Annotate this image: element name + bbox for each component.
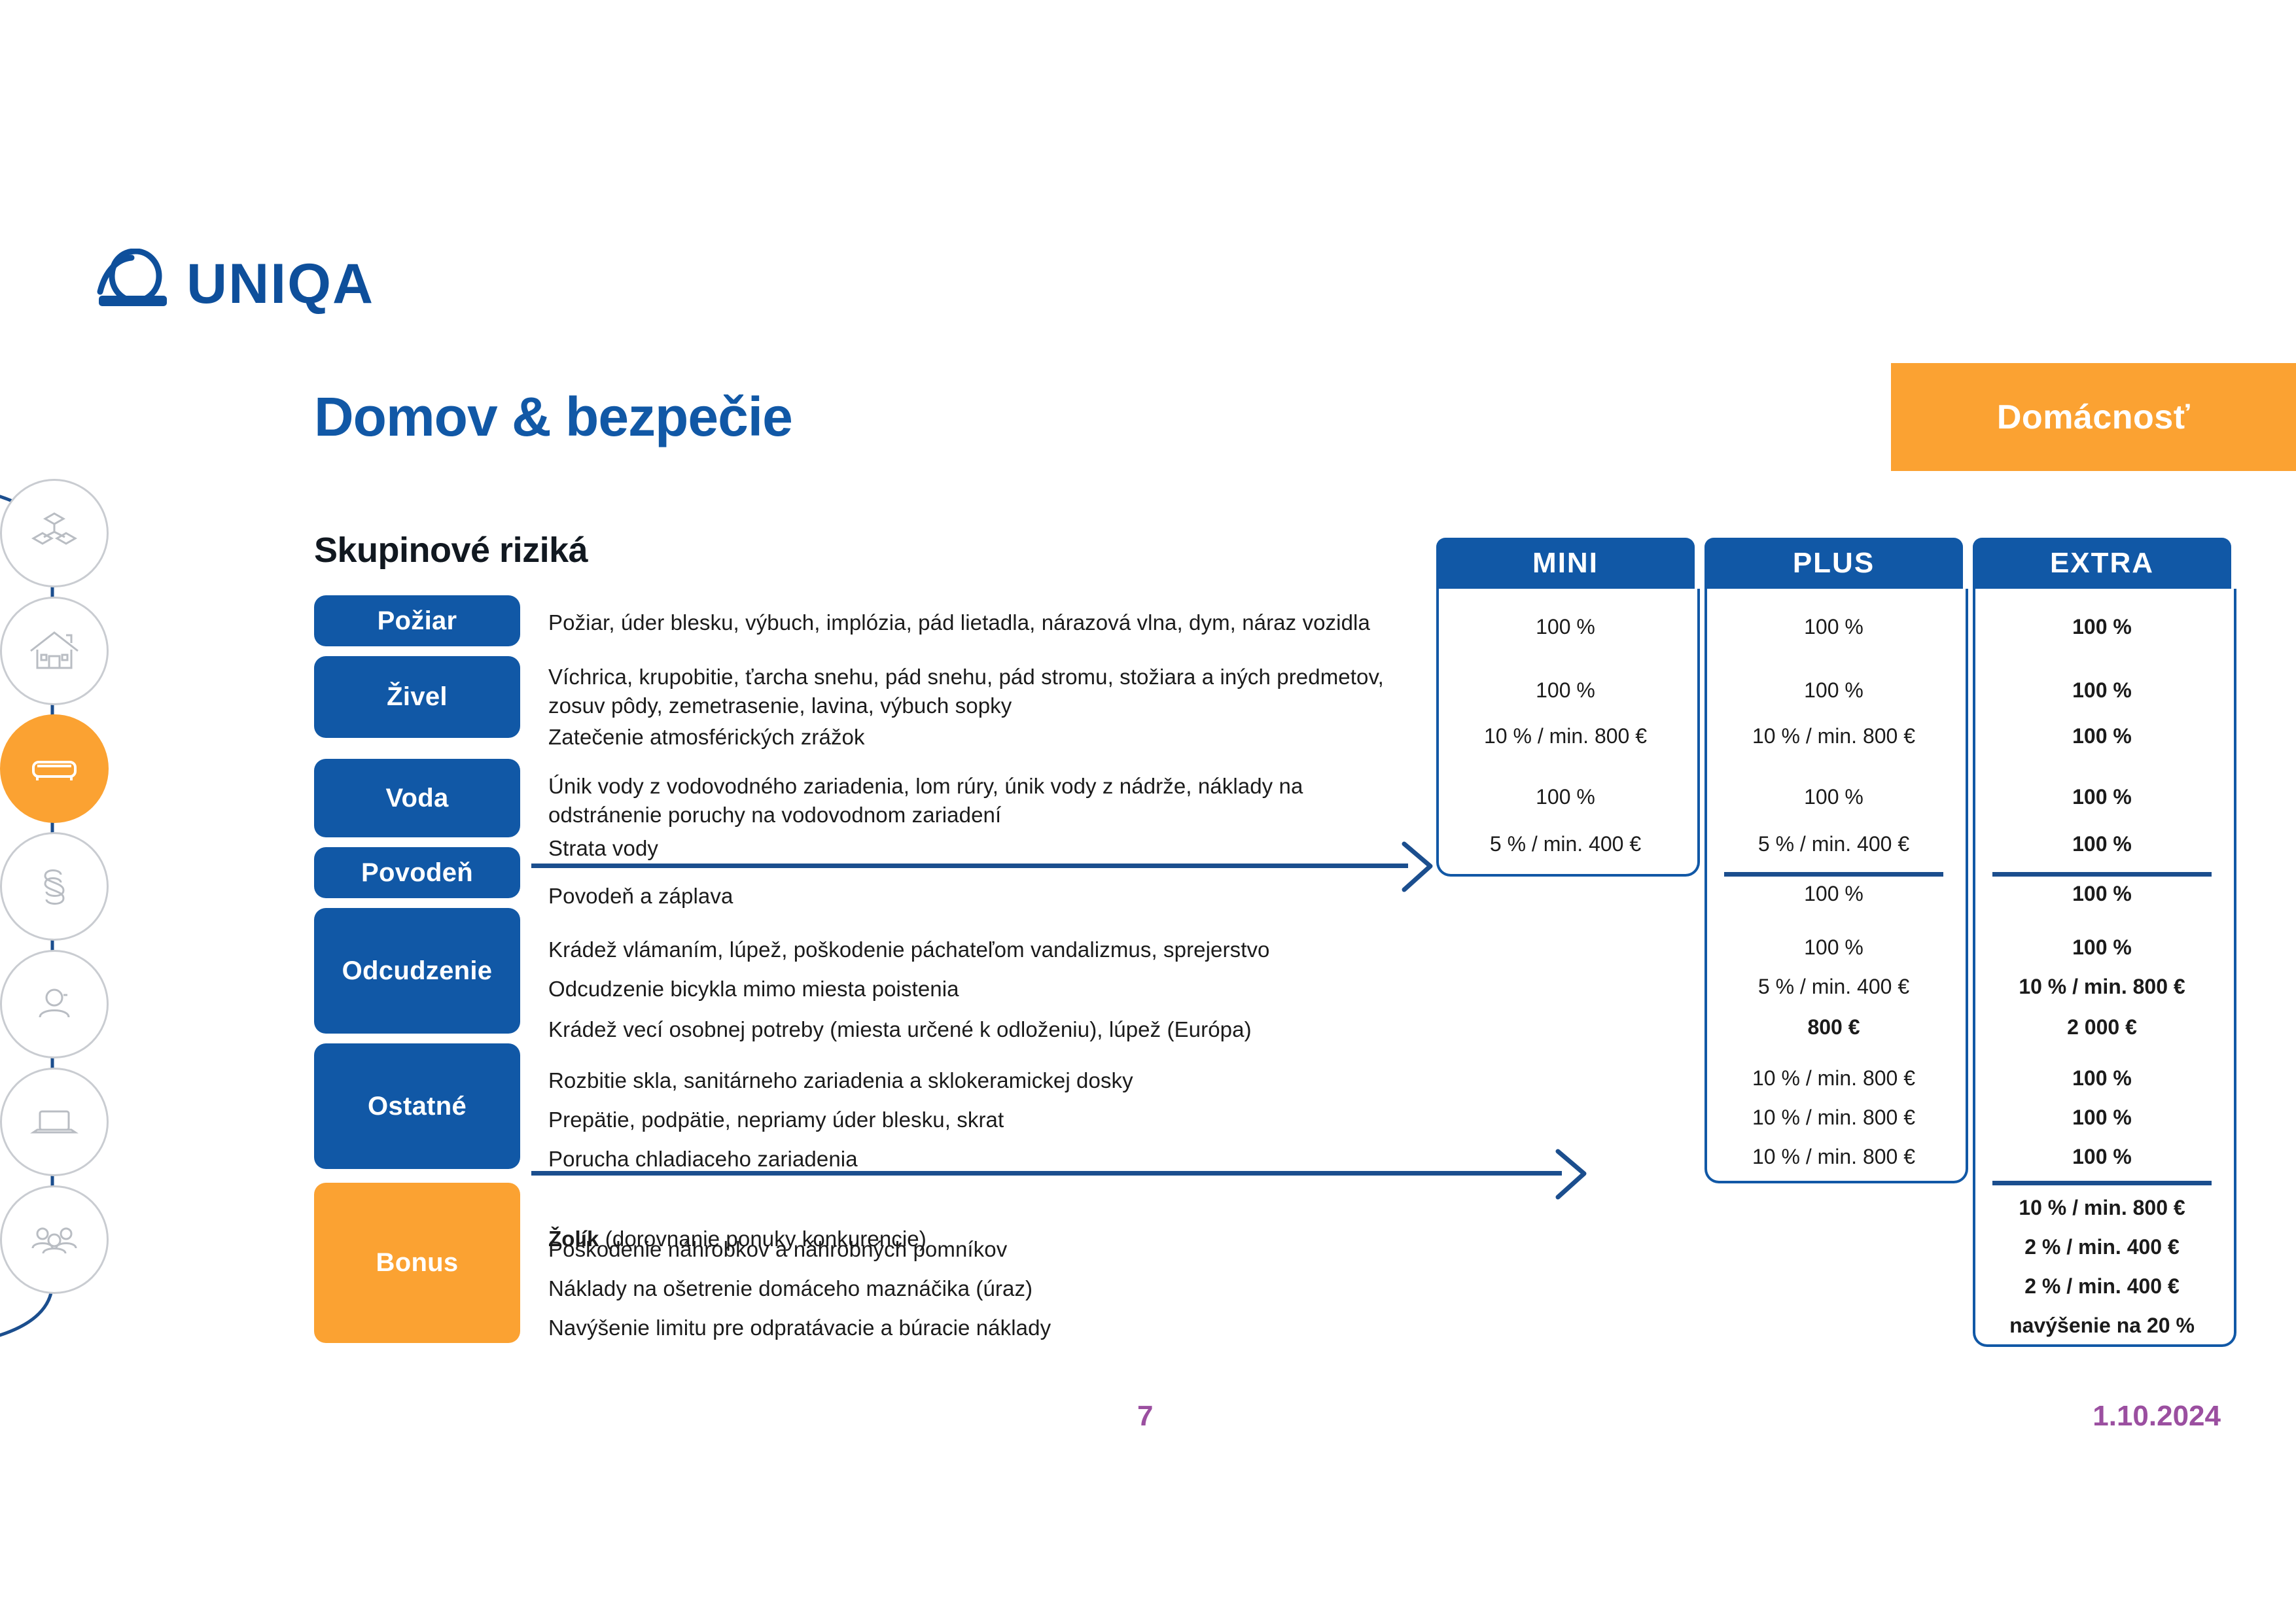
row-description: Požiar, úder blesku, výbuch, implózia, p… <box>548 608 1425 637</box>
cell-extra: 100 % <box>1973 1106 2231 1130</box>
cell-plus: 10 % / min. 800 € <box>1704 1145 1963 1169</box>
cell-extra: 100 % <box>1973 1066 2231 1091</box>
cell-extra: 100 % <box>1973 832 2231 856</box>
cell-plus: 100 % <box>1704 785 1963 809</box>
cell-plus: 10 % / min. 800 € <box>1704 1066 1963 1091</box>
category-chip-povoden[interactable]: Povodeň <box>314 847 520 898</box>
row-description: Povodeň a záplava <box>548 882 1425 911</box>
plan-header-extra: EXTRA <box>1973 538 2231 589</box>
cell-mini: 100 % <box>1436 678 1695 703</box>
cell-plus: 5 % / min. 400 € <box>1704 832 1963 856</box>
flow-line-plus <box>531 1171 1562 1176</box>
category-chip-odcudzenie[interactable]: Odcudzenie <box>314 908 520 1034</box>
category-chip-bonus[interactable]: Bonus <box>314 1183 520 1343</box>
cell-extra: 100 % <box>1973 678 2231 703</box>
coverage-matrix: Požiar Živel Voda Povodeň Odcudzenie Ost… <box>0 0 2296 1623</box>
row-description: Odcudzenie bicykla mimo miesta poistenia <box>548 975 1425 1003</box>
row-description: Rozbitie skla, sanitárneho zariadenia a … <box>548 1066 1425 1095</box>
cell-mini: 10 % / min. 800 € <box>1436 724 1695 748</box>
cell-extra: 10 % / min. 800 € <box>1973 1196 2231 1220</box>
category-chip-voda[interactable]: Voda <box>314 759 520 837</box>
cell-extra: 100 % <box>1973 882 2231 906</box>
plan-header-mini: MINI <box>1436 538 1695 589</box>
cell-plus: 100 % <box>1704 678 1963 703</box>
cell-extra: 100 % <box>1973 615 2231 639</box>
cell-extra: 100 % <box>1973 785 2231 809</box>
category-chip-poziar[interactable]: Požiar <box>314 595 520 646</box>
cell-mini: 100 % <box>1436 615 1695 639</box>
flow-line-mini <box>531 864 1408 868</box>
page-number: 7 <box>1137 1400 1153 1433</box>
cell-mini: 100 % <box>1436 785 1695 809</box>
row-description: Poškodenie náhrobkov a náhrobných pomník… <box>548 1235 1425 1264</box>
cell-extra: 100 % <box>1973 935 2231 960</box>
row-description: Navýšenie limitu pre odpratávacie a búra… <box>548 1314 1425 1342</box>
cell-plus: 100 % <box>1704 935 1963 960</box>
cell-plus: 5 % / min. 400 € <box>1704 975 1963 999</box>
cell-extra: 10 % / min. 800 € <box>1973 975 2231 999</box>
row-description: Víchrica, krupobitie, ťarcha snehu, pád … <box>548 663 1428 720</box>
plan-extra-divider-2 <box>1992 1181 2212 1185</box>
flow-arrow-plus-icon <box>1554 1146 1600 1201</box>
cell-extra: 100 % <box>1973 1145 2231 1169</box>
cell-plus: 10 % / min. 800 € <box>1704 1106 1963 1130</box>
cell-plus: 800 € <box>1704 1015 1963 1039</box>
row-description: Porucha chladiaceho zariadenia <box>548 1145 1425 1174</box>
cell-plus: 10 % / min. 800 € <box>1704 724 1963 748</box>
cell-plus: 100 % <box>1704 882 1963 906</box>
plan-plus-divider <box>1724 872 1943 877</box>
row-description: Náklady na ošetrenie domáceho maznáčika … <box>548 1274 1425 1303</box>
plan-header-plus: PLUS <box>1704 538 1963 589</box>
cell-extra: 2 % / min. 400 € <box>1973 1274 2231 1299</box>
cell-extra: 2 000 € <box>1973 1015 2231 1039</box>
row-description: Strata vody <box>548 834 1425 863</box>
cell-extra: 100 % <box>1973 724 2231 748</box>
document-date: 1.10.2024 <box>2093 1400 2221 1433</box>
cell-plus: 100 % <box>1704 615 1963 639</box>
category-chip-ostatne[interactable]: Ostatné <box>314 1043 520 1169</box>
row-description: Prepätie, podpätie, nepriamy úder blesku… <box>548 1106 1425 1134</box>
row-description: Zatečenie atmosférických zrážok <box>548 723 1425 752</box>
plan-extra-divider-1 <box>1992 872 2212 877</box>
row-description: Krádež vecí osobnej potreby (miesta urče… <box>548 1015 1425 1044</box>
cell-extra: navýšenie na 20 % <box>1973 1314 2231 1338</box>
category-chip-zivel[interactable]: Živel <box>314 656 520 738</box>
row-description: Krádež vlámaním, lúpež, poškodenie pácha… <box>548 935 1425 964</box>
cell-extra: 2 % / min. 400 € <box>1973 1235 2231 1259</box>
row-description: Únik vody z vodovodného zariadenia, lom … <box>548 772 1350 829</box>
cell-mini: 5 % / min. 400 € <box>1436 832 1695 856</box>
